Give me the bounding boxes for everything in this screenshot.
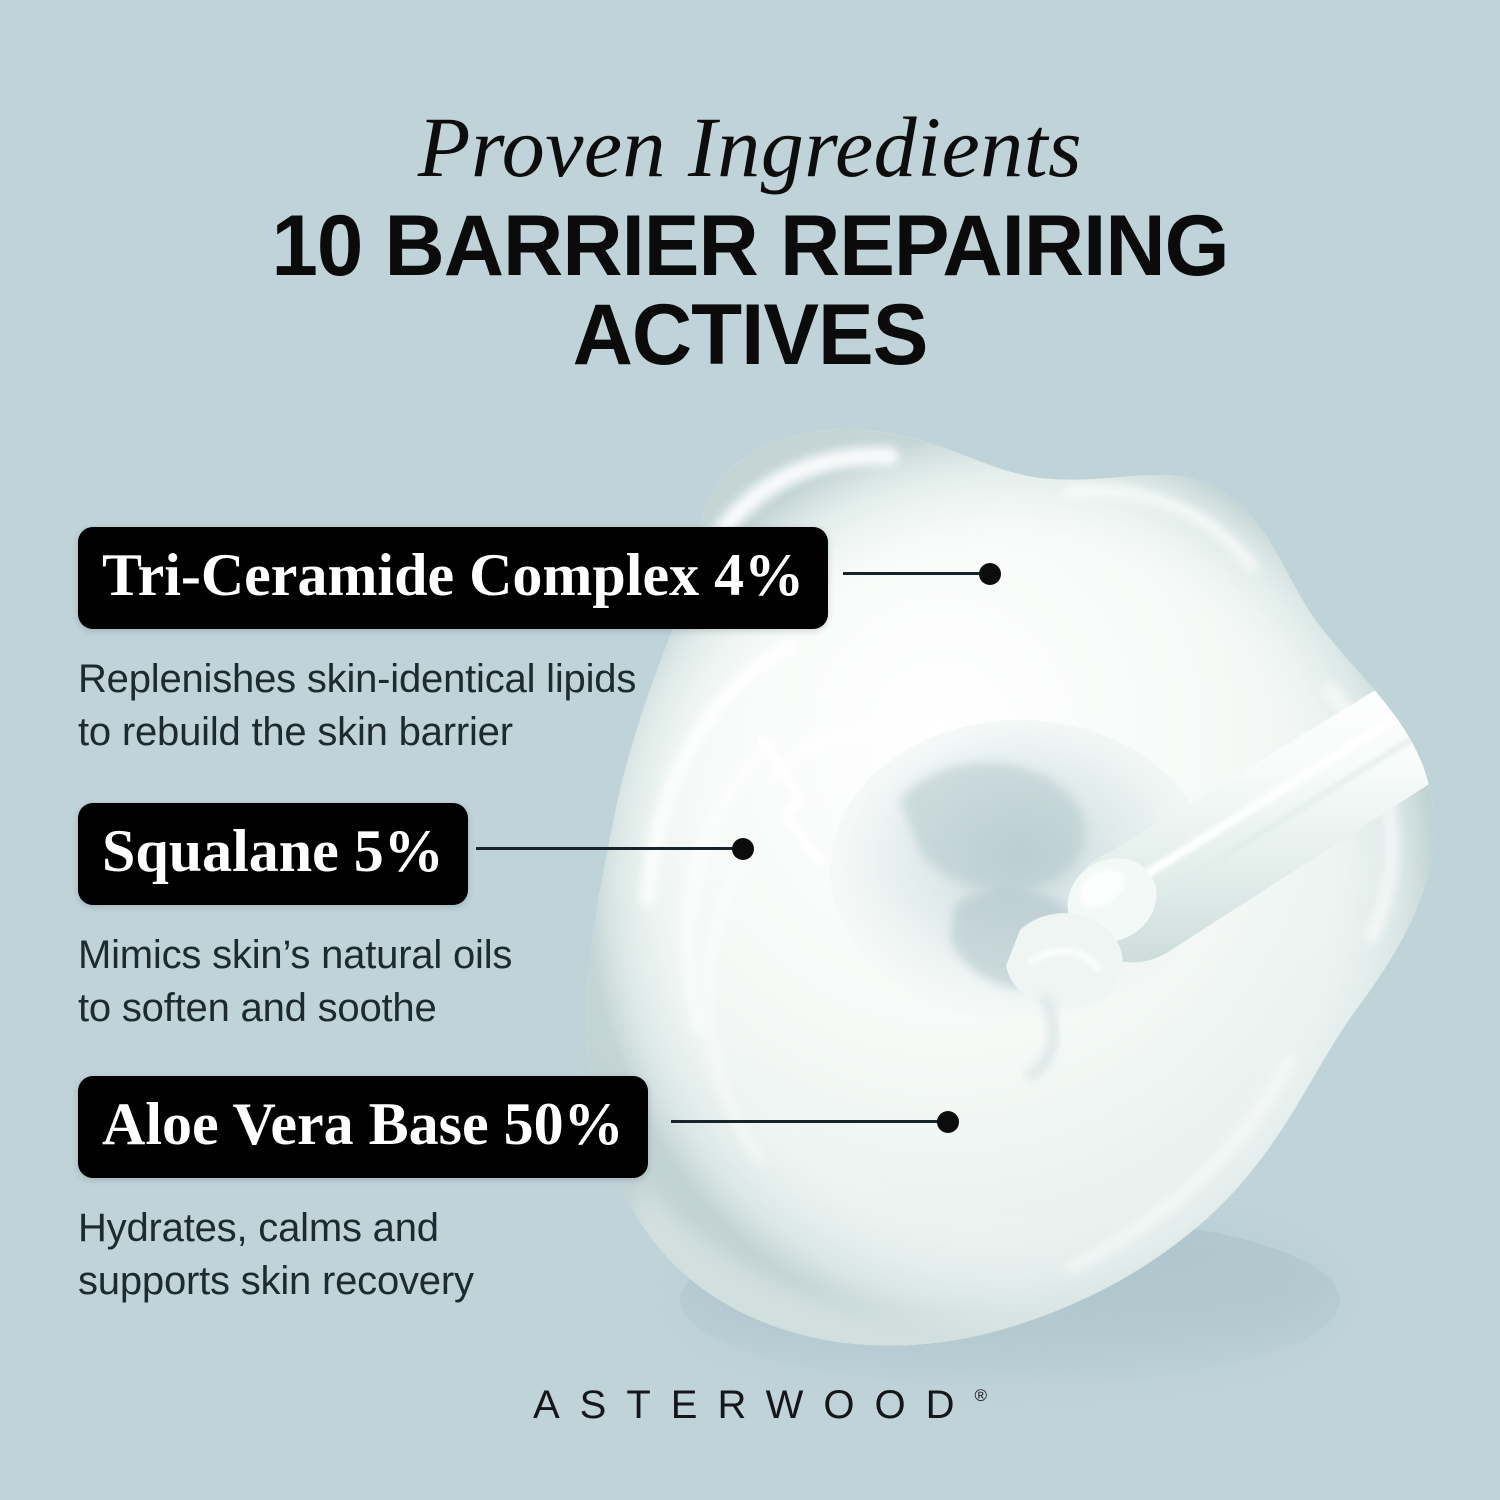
leader-line-ingredient-3: [671, 1120, 951, 1123]
leader-line-ingredient-2: [476, 847, 746, 850]
ingredient-label-3: Aloe Vera Base 50%: [78, 1076, 648, 1178]
ingredient-callout-1: Tri-Ceramide Complex 4% Replenishes skin…: [78, 527, 828, 759]
leader-dot-ingredient-3: [937, 1111, 959, 1133]
infographic-poster: Proven Ingredients 10 BARRIER REPAIRING …: [0, 0, 1500, 1500]
leader-dot-ingredient-2: [732, 838, 754, 860]
registered-trademark-icon: ®: [974, 1386, 987, 1405]
ingredient-label-1: Tri-Ceramide Complex 4%: [78, 527, 828, 629]
leader-dot-ingredient-1: [979, 563, 1001, 585]
ingredient-callout-2: Squalane 5% Mimics skin’s natural oils t…: [78, 803, 512, 1035]
leader-line-ingredient-1: [843, 572, 993, 575]
brand-name: ASTERWOOD: [533, 1383, 975, 1427]
ingredient-callout-3: Aloe Vera Base 50% Hydrates, calms and s…: [78, 1076, 648, 1308]
page-title: 10 BARRIER REPAIRING ACTIVES: [139, 202, 1361, 381]
ingredient-description-2: Mimics skin’s natural oils to soften and…: [78, 929, 512, 1035]
brand-logo: ASTERWOOD®: [0, 1383, 1500, 1428]
ingredient-label-2: Squalane 5%: [78, 803, 468, 905]
ingredient-description-3: Hydrates, calms and supports skin recove…: [78, 1202, 648, 1308]
page-eyebrow-title: Proven Ingredients: [0, 104, 1500, 190]
ingredient-description-1: Replenishes skin-identical lipids to reb…: [78, 653, 828, 759]
